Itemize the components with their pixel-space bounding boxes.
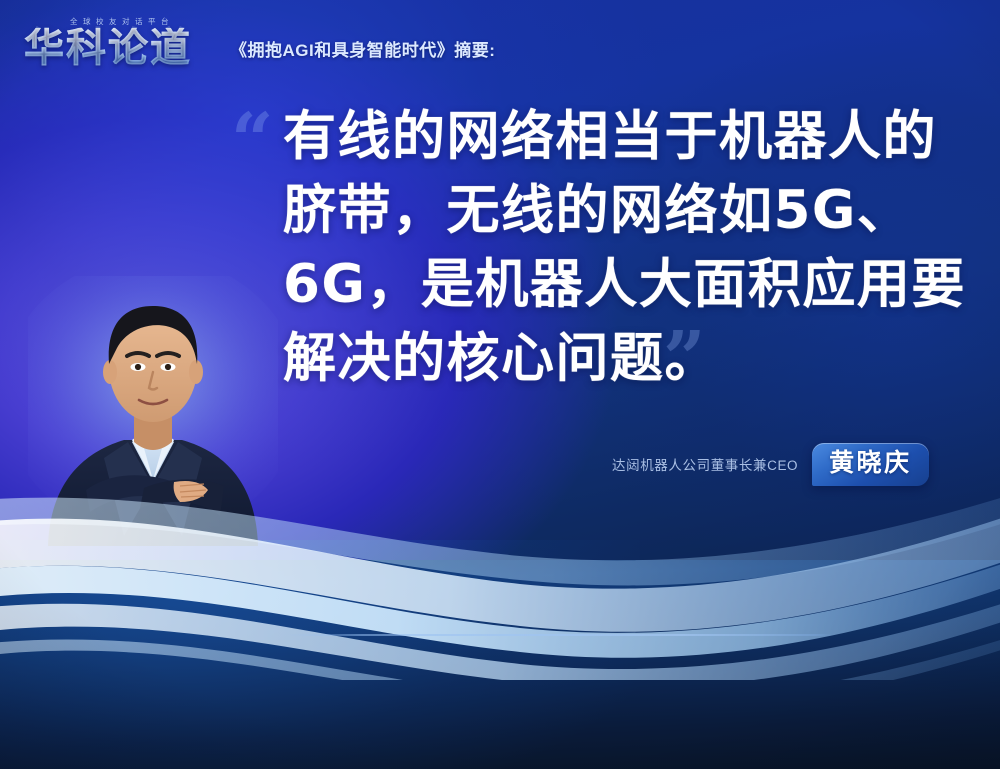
- quote-text: 有线的网络相当于机器人的 脐带，无线的网络如5G、 6G，是机器人大面积应用要 …: [283, 100, 955, 396]
- brand-logo[interactable]: 全球校友对话平台 华科论道: [24, 16, 216, 68]
- quote-line: 6G，是机器人大面积应用要: [283, 248, 955, 322]
- footer-divider: [286, 634, 832, 636]
- footer: 入群请咨询工作人员： 微信号 srh15029033920 (苏同学) 微信号 …: [0, 640, 1000, 769]
- logo-wordmark: 华科论道: [24, 28, 216, 68]
- quote-line: 解决的核心问题。: [283, 322, 955, 396]
- quote-line: 脐带，无线的网络如5G、: [283, 174, 955, 248]
- poster-root: 全球校友对话平台 华科论道 《拥抱AGI和具身智能时代》摘要: “ 有线的网络相…: [0, 0, 1000, 769]
- quote-close-mark: ”: [663, 322, 706, 396]
- page-title: 《拥抱AGI和具身智能时代》摘要:: [230, 36, 495, 68]
- header: 全球校友对话平台 华科论道 《拥抱AGI和具身智能时代》摘要:: [24, 16, 495, 68]
- attribution: 达闼机器人公司董事长兼CEO 黄晓庆: [612, 443, 929, 486]
- quote-line: 有线的网络相当于机器人的: [283, 100, 955, 174]
- quote-open-mark: “: [231, 104, 274, 178]
- speaker-role: 达闼机器人公司董事长兼CEO: [612, 454, 798, 474]
- logo-tagline: 全球校友对话平台: [28, 16, 216, 27]
- speaker-name-badge: 黄晓庆: [812, 443, 929, 486]
